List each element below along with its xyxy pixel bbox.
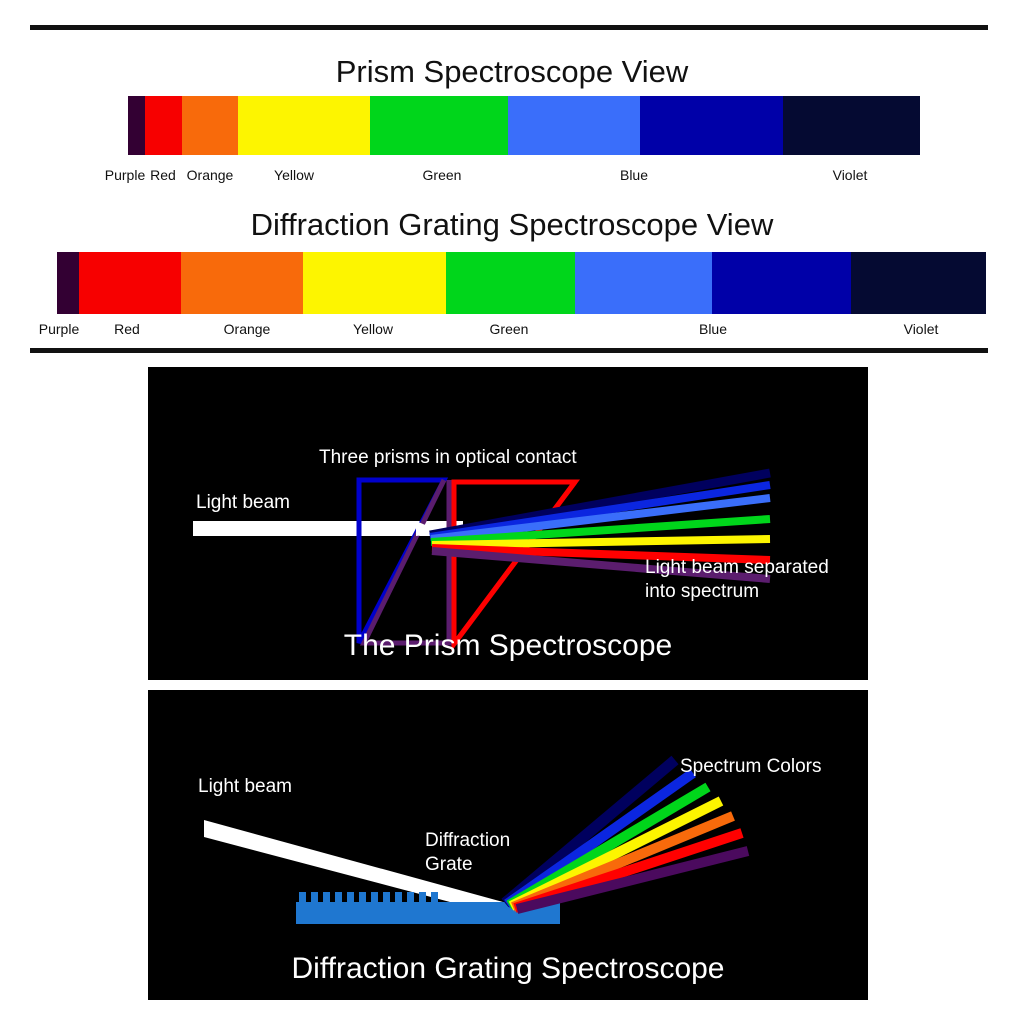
spectrum-segment-orange [181,252,303,314]
grating-label-spectrum-colors: Spectrum Colors [680,755,822,779]
spectrum-label-yellow: Yellow [353,321,393,337]
spectrum-segment-orange [182,96,238,155]
spectrum-label-orange: Orange [224,321,271,337]
spectrum-label-purple: Purple [39,321,79,337]
prism-view-title: Prism Spectroscope View [0,54,1024,90]
prism-diagram-panel: Three prisms in optical contact Light be… [148,367,868,680]
grating-spectrum-labels: PurpleRedOrangeYellowGreenBlueViolet [0,321,1024,343]
spectrum-label-blue: Blue [620,167,648,183]
spectrum-segment-blue [575,252,712,314]
spectrum-label-green: Green [423,167,462,183]
prism-spectrum-labels: PurpleRedOrangeYellowGreenBlueViolet [0,167,1024,189]
spectrum-segment-band6 [712,252,851,314]
page-root: Prism Spectroscope View PurpleRedOrangeY… [0,0,1024,1024]
spectrum-label-red: Red [114,321,140,337]
prism-label-three-prisms: Three prisms in optical contact [319,446,577,470]
grating-panel-caption: Diffraction Grating Spectroscope [148,952,868,986]
spectrum-segment-blue [508,96,640,155]
grating-spectrum-rays [505,760,748,909]
spectrum-label-yellow: Yellow [274,167,314,183]
spectrum-segment-band6 [640,96,783,155]
spectrum-segment-red [145,96,182,155]
divider-middle [30,348,988,353]
prism-label-light-beam: Light beam [196,491,290,515]
spectrum-label-violet: Violet [833,167,868,183]
prism-label-separated-spectrum: Light beam separated into spectrum [645,556,829,604]
spectrum-segment-purple [57,252,79,314]
spectrum-label-blue: Blue [699,321,727,337]
grating-view-title: Diffraction Grating Spectroscope View [0,207,1024,243]
prism-purple-outline [364,480,449,643]
spectrum-label-red: Red [150,167,176,183]
spectrum-segment-violet [851,252,986,314]
prism-panel-caption: The Prism Spectroscope [148,629,868,663]
spectrum-segment-yellow [303,252,446,314]
spectrum-segment-yellow [238,96,370,155]
spectrum-segment-green [370,96,508,155]
divider-top [30,25,988,30]
spectrum-segment-purple [128,96,145,155]
grating-spectrum-band [57,252,986,314]
grating-label-diffraction-grate: Diffraction Grate [425,829,510,877]
spectrum-segment-red [79,252,181,314]
spectrum-label-violet: Violet [904,321,939,337]
grating-diagram-panel: Light beam Diffraction Grate Spectrum Co… [148,690,868,1000]
prism-spectrum-band [128,96,920,155]
spectrum-segment-green [446,252,575,314]
spectrum-label-orange: Orange [187,167,234,183]
spectrum-segment-violet [783,96,920,155]
grating-label-light-beam: Light beam [198,775,292,799]
spectrum-label-green: Green [490,321,529,337]
spectrum-label-purple: Purple [105,167,145,183]
